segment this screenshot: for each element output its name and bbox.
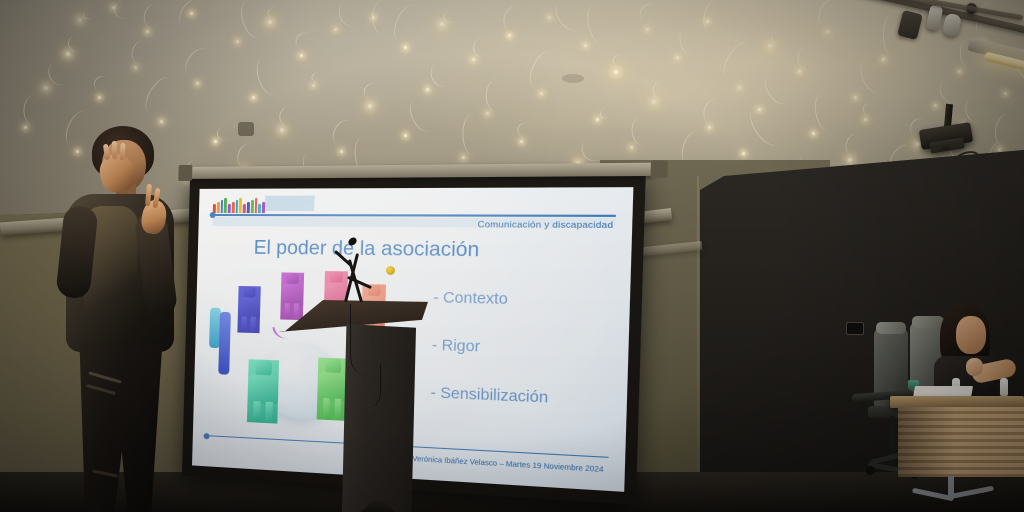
logo-person [254, 198, 257, 213]
water-bottle-2 [1000, 378, 1008, 396]
interpreter-legs [74, 344, 166, 512]
ceiling-star-light [706, 20, 709, 23]
ceiling-star-light [596, 118, 599, 121]
bullet-item-1: - Rigor [432, 337, 550, 358]
bullet-item-2: - Sensibilización [430, 385, 548, 407]
head-table-shadow [898, 407, 1024, 477]
ceiling-star-light [584, 44, 587, 47]
ceiling-star-light [854, 96, 857, 99]
logo-person [258, 204, 261, 213]
ceiling-star-light [812, 132, 815, 135]
ceiling-star-light [78, 18, 82, 22]
ceiling-star-light [280, 128, 284, 132]
slide-footer: Verónica Ibáñez Velasco – Martes 19 Novi… [412, 456, 603, 474]
ceiling-star-light [252, 96, 255, 99]
seated-woman-hand [966, 358, 983, 376]
ceiling-star-light [462, 156, 465, 159]
star-strand [372, 0, 395, 34]
ceiling-star-light [98, 96, 101, 99]
ceiling-star-light [646, 28, 649, 31]
slide-title: El poder de la asociación [253, 237, 479, 262]
ceiling-star-light [738, 86, 741, 89]
ceiling-star-light [426, 88, 429, 91]
ceiling-star-light [848, 158, 852, 162]
logo-person [232, 202, 235, 213]
star-strand [462, 113, 486, 156]
ceiling-star-light [146, 30, 149, 33]
ceiling-star-light [826, 30, 829, 33]
interpreter-finger-2 [112, 141, 118, 159]
mic-windscreen [386, 266, 395, 275]
ceiling-star-light [708, 126, 711, 129]
smoke-detector [562, 74, 584, 83]
logo-person [216, 202, 219, 213]
ceiling-star-light [268, 20, 272, 24]
ceiling-star-light [1004, 92, 1007, 95]
slide-kicker: Comunicación y discapacidad [477, 219, 613, 230]
ceiling-star-light [486, 112, 489, 115]
ceiling-star-light [340, 150, 343, 153]
ceiling-star-light [882, 58, 885, 61]
ceiling-star-light [112, 6, 115, 9]
ceiling-star-light [614, 70, 618, 74]
ceiling-star-light [742, 152, 745, 155]
figure-teal [247, 359, 279, 423]
logo-person [224, 198, 227, 213]
table-leg-foot-right [948, 486, 994, 500]
seated-woman-face [956, 316, 986, 354]
ceiling-star-light [44, 86, 48, 90]
presentation-room-photo: Comunicación y discapacidad El poder de … [0, 0, 1024, 512]
ceiling-star-light [368, 104, 372, 108]
head-table-area [856, 300, 1024, 512]
ceiling-star-light [472, 58, 475, 61]
chair-2-headrest [912, 316, 944, 328]
sign-language-interpreter [30, 120, 215, 512]
ceiling-star-light [312, 84, 315, 87]
ceiling-speaker [238, 122, 254, 136]
ceiling-star-light [236, 40, 239, 43]
ceiling-star-light [508, 34, 511, 37]
logo-person [243, 204, 246, 213]
ceiling-star-light [404, 134, 407, 137]
ceiling-star-light [372, 16, 375, 19]
logo-person [239, 198, 242, 213]
bullet-item-0: - Contexto [433, 290, 551, 310]
ceiling-star-light [134, 66, 137, 69]
ceiling-star-light [196, 82, 199, 85]
speaking-podium [330, 300, 426, 512]
ceiling-star-light [334, 28, 337, 31]
ceiling-star-light [190, 12, 193, 15]
logo-person [220, 200, 223, 213]
ceiling-star-light [676, 56, 679, 59]
logo-person [247, 202, 250, 213]
figure-magenta [280, 272, 304, 320]
ceiling-star-light [520, 140, 523, 143]
logo-person [235, 200, 238, 213]
ceiling-star-light [768, 44, 772, 48]
ceiling-star-light [864, 118, 867, 121]
logo-person [251, 200, 254, 213]
bar-blue [218, 312, 231, 375]
header-color-band [265, 196, 315, 211]
ceiling-star-light [24, 126, 27, 129]
chair-1-headrest [876, 322, 906, 334]
slide-bullet-list: - Contexto - Rigor - Sensibilización [430, 290, 551, 407]
screen-roller-cap-right [650, 160, 667, 178]
wall-corner-seam [697, 176, 699, 512]
logo-person [228, 204, 231, 213]
chair-1-caster-1 [866, 466, 875, 475]
ceiling-star-light [630, 146, 633, 149]
ceiling-star-light [652, 100, 656, 104]
figure-blue [237, 286, 260, 333]
ceiling-star-light [300, 54, 303, 57]
ceiling-star-light [916, 142, 920, 146]
people-group-logo [213, 196, 266, 213]
ceiling-star-light [404, 46, 407, 49]
ceiling-star-light [958, 70, 961, 73]
ceiling-star-light [540, 92, 543, 95]
ceiling-star-light [440, 22, 444, 26]
ceiling-star-light [66, 52, 70, 56]
ceiling-star-light [548, 16, 551, 19]
ceiling-star-light [798, 70, 801, 73]
ceiling-star-light [934, 104, 937, 107]
